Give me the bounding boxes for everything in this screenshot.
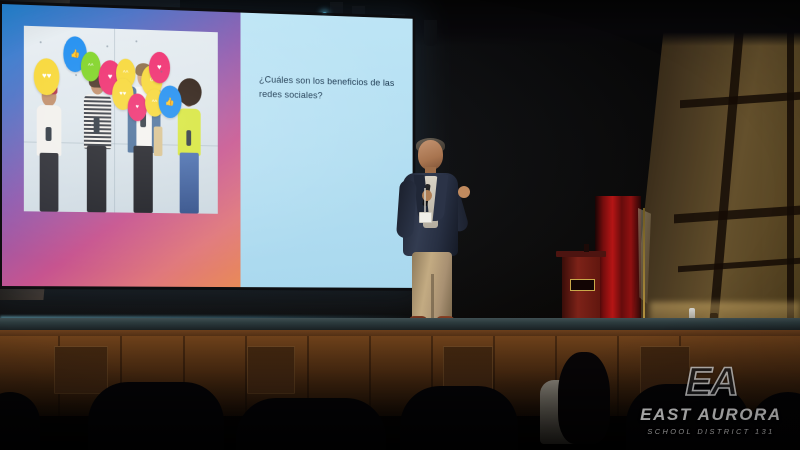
panel-seam bbox=[617, 336, 619, 416]
smartphone bbox=[46, 126, 51, 141]
notebook bbox=[154, 126, 163, 156]
audience-seat bbox=[400, 386, 518, 450]
wall-speck bbox=[40, 41, 42, 43]
flag-pole bbox=[643, 208, 645, 326]
smartphone bbox=[186, 130, 191, 145]
presenter-hand-right bbox=[458, 186, 470, 198]
wall-speck bbox=[135, 41, 137, 43]
slide-photo: ♥♥ 👍 ^^ ♥ ^^ ♥♥ o ♥ ♥ ^^ 👍 bbox=[24, 26, 217, 214]
wall-speck bbox=[91, 124, 93, 126]
person-legs bbox=[40, 153, 59, 212]
name-badge bbox=[419, 212, 432, 223]
panel-seam bbox=[369, 336, 371, 416]
presenter bbox=[386, 140, 482, 336]
presenter-head bbox=[418, 140, 443, 170]
wall-beam bbox=[678, 258, 800, 273]
stage-front-inset-panel bbox=[247, 346, 295, 394]
podium-microphone bbox=[584, 244, 589, 252]
podium bbox=[562, 256, 600, 326]
photo-person bbox=[32, 78, 71, 212]
person-legs bbox=[134, 145, 153, 213]
wall-beam bbox=[709, 0, 747, 330]
person-legs bbox=[179, 153, 198, 214]
watermark-name: EAST AURORA bbox=[640, 406, 782, 423]
auditorium-presentation-photo: ♥♥ 👍 ^^ ♥ ^^ ♥♥ o ♥ ♥ ^^ 👍 bbox=[0, 0, 800, 450]
podium-seal-plate bbox=[570, 279, 595, 291]
stage-light-fixture bbox=[424, 20, 437, 46]
slide-title: ¿Cuáles son los beneficios de las redes … bbox=[259, 74, 399, 106]
stage-front-inset-panel bbox=[54, 346, 108, 394]
wall-beam bbox=[680, 92, 800, 108]
audience-member-hair bbox=[558, 352, 610, 444]
podium-top bbox=[556, 251, 606, 257]
heart-eyes-emoji: ♥♥ bbox=[34, 58, 60, 96]
lanyard bbox=[424, 188, 426, 214]
slide-left-gradient-panel: ♥♥ 👍 ^^ ♥ ^^ ♥♥ o ♥ ♥ ^^ 👍 bbox=[2, 4, 241, 287]
thumbs-up-icon: 👍 bbox=[158, 85, 181, 118]
wall-speck bbox=[106, 45, 108, 47]
wall-beam bbox=[787, 0, 794, 330]
person-hair-afro bbox=[178, 78, 202, 106]
smartphone bbox=[94, 118, 100, 134]
watermark-subtitle: SCHOOL DISTRICT 131 bbox=[647, 427, 774, 436]
watermark-monogram: EA bbox=[685, 362, 737, 402]
laughing-emoji: ^^ bbox=[81, 52, 100, 82]
heart-icon: ♥ bbox=[128, 94, 147, 122]
wall-speck bbox=[75, 74, 77, 76]
audience-seat bbox=[88, 382, 224, 450]
trouser-seam bbox=[431, 274, 434, 322]
stage-curtain bbox=[595, 196, 641, 324]
wall-beam bbox=[674, 206, 800, 224]
person-legs bbox=[87, 146, 107, 212]
wall-speck bbox=[160, 71, 162, 73]
watermark-logo: EA EAST AURORA SCHOOL DISTRICT 131 bbox=[636, 340, 786, 436]
slide-surface: ♥♥ 👍 ^^ ♥ ^^ ♥♥ o ♥ ♥ ^^ 👍 bbox=[2, 4, 413, 288]
audience-seat bbox=[236, 398, 386, 450]
audience-member bbox=[530, 352, 614, 450]
heart-icon: ♥ bbox=[149, 52, 170, 84]
projection-screen: ♥♥ 👍 ^^ ♥ ^^ ♥♥ o ♥ ♥ ^^ 👍 bbox=[2, 4, 413, 288]
